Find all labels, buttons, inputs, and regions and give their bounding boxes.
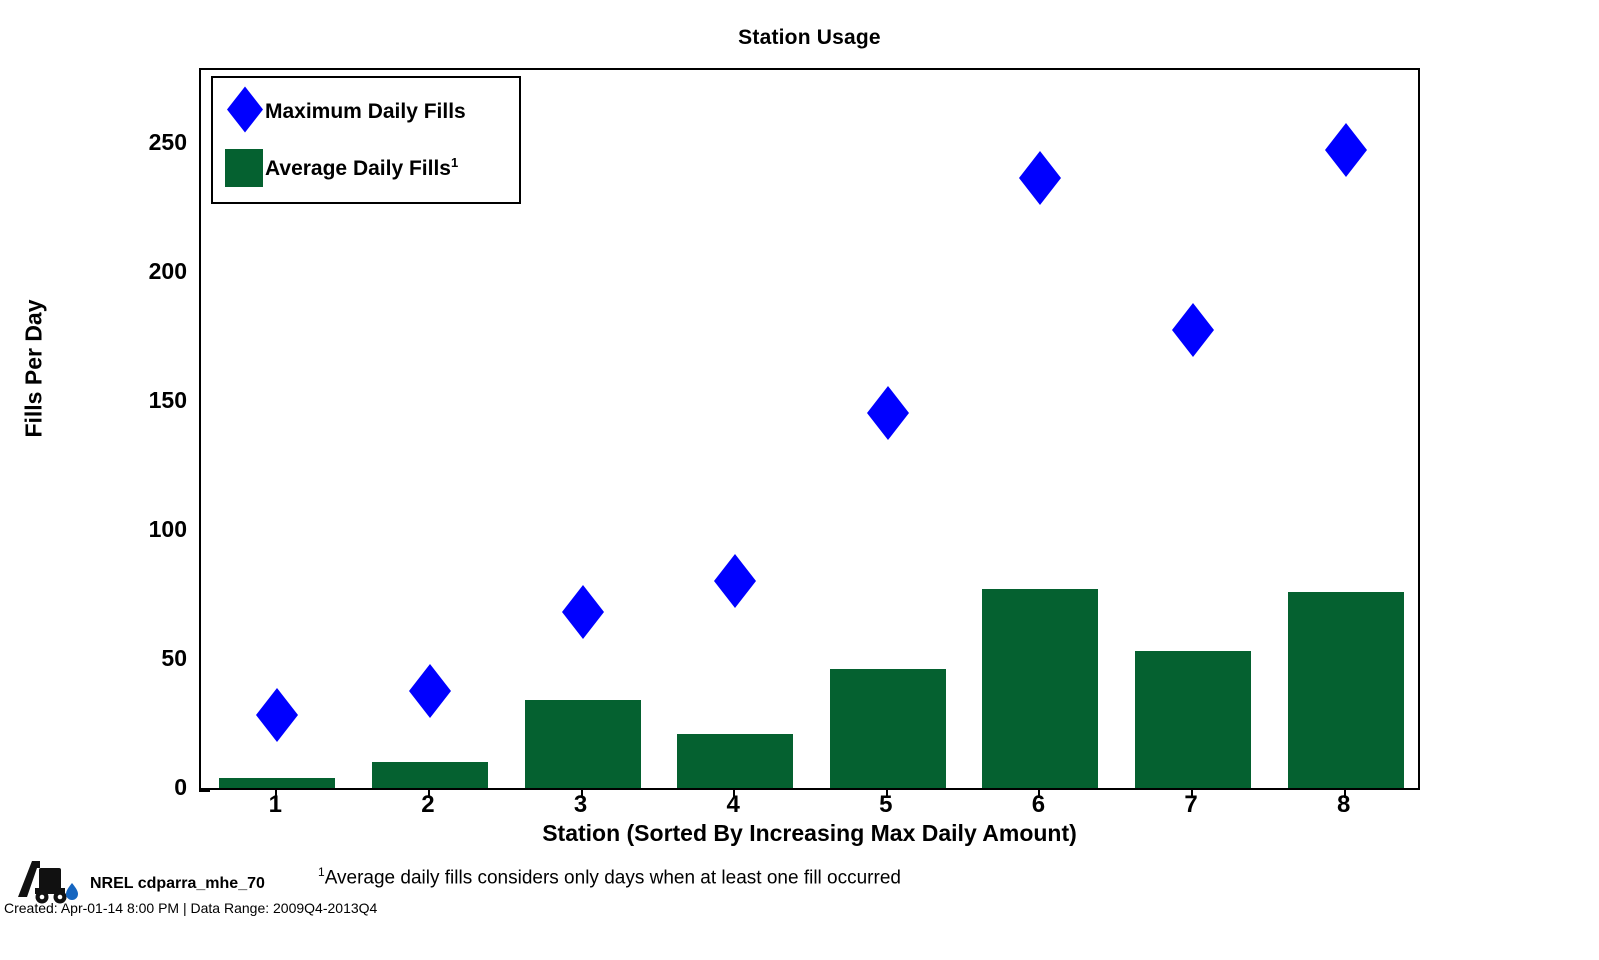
max-daily-fills-marker-3[interactable] [559,582,607,642]
y-tick-label: 100 [149,516,187,543]
x-tick-mark [1191,788,1193,798]
x-tick-mark [581,788,583,798]
legend-item-average-daily-fills[interactable]: Average Daily Fills1 [213,142,519,194]
x-tick-mark [1344,788,1346,798]
x-axis-label: Station (Sorted By Increasing Max Daily … [199,820,1420,847]
bar-8[interactable] [1288,592,1404,788]
x-tick-mark [886,788,888,798]
max-daily-fills-marker-5[interactable] [864,383,912,443]
chart-footnote: 1Average daily fills considers only days… [318,865,901,889]
y-tick-label: 150 [149,387,187,414]
legend-item-maximum-daily-fills[interactable]: Maximum Daily Fills [213,86,519,138]
max-daily-fills-marker-4[interactable] [711,551,759,611]
bar-3[interactable] [525,700,641,788]
x-tick-mark [1038,788,1040,798]
footnote-text: Average daily fills considers only days … [325,867,901,888]
bar-4[interactable] [677,734,793,788]
bar-6[interactable] [982,589,1098,788]
max-daily-fills-marker-6[interactable] [1016,148,1064,208]
legend-square-icon [225,149,263,187]
max-daily-fills-marker-1[interactable] [253,685,301,745]
x-tick-mark [733,788,735,798]
nrel-label: NREL cdparra_mhe_70 [90,875,265,893]
figure-canvas: Station Usage Fills Per Day 050100150200… [0,0,1599,960]
legend-label: Average Daily Fills1 [265,155,458,181]
y-tick-label: 250 [149,129,187,156]
chart-title: Station Usage [199,26,1420,50]
max-daily-fills-marker-2[interactable] [406,661,454,721]
legend-diamond-icon [225,85,265,140]
y-tick-mark [199,790,210,792]
x-tick-mark [275,788,277,798]
y-tick-label: 50 [161,645,187,672]
chart-legend[interactable]: Maximum Daily FillsAverage Daily Fills1 [211,76,521,204]
bar-1[interactable] [219,778,335,788]
forklift-icon [10,855,82,905]
max-daily-fills-marker-7[interactable] [1169,300,1217,360]
footnote-superscript: 1 [318,865,325,879]
bar-7[interactable] [1135,651,1251,788]
bar-2[interactable] [372,762,488,788]
x-tick-mark [428,788,430,798]
max-daily-fills-marker-8[interactable] [1322,120,1370,180]
legend-label-superscript: 1 [451,155,458,170]
legend-label: Maximum Daily Fills [265,100,466,124]
bar-5[interactable] [830,669,946,788]
branding-row: NREL cdparra_mhe_70 [10,855,82,905]
created-metadata: Created: Apr-01-14 8:00 PM | Data Range:… [4,900,377,916]
y-axis-label: Fills Per Day [21,169,48,569]
y-tick-label: 200 [149,258,187,285]
y-tick-label: 0 [174,774,187,801]
